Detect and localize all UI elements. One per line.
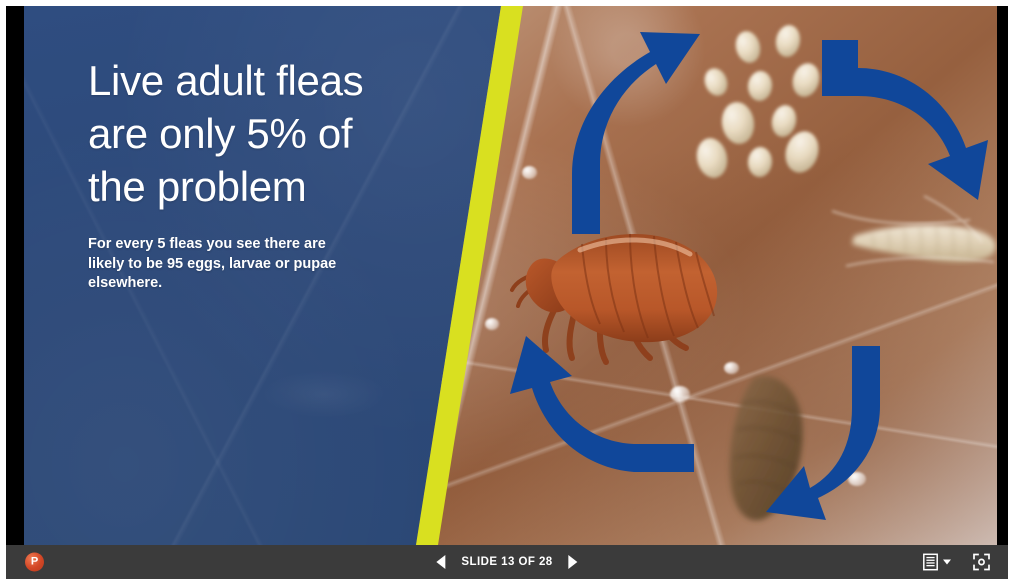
- slide-menu-button[interactable]: [923, 554, 951, 571]
- fullscreen-button[interactable]: [973, 554, 990, 571]
- flea-life-cycle-diagram: [454, 6, 997, 545]
- playback-control-bar: P SLIDE 13 OF 28: [6, 545, 1008, 579]
- eggs-cluster: [693, 23, 824, 181]
- adult-flea: [512, 234, 717, 362]
- slide-title: Live adult fleas are only 5% of the prob…: [88, 54, 388, 213]
- slide-navigation: SLIDE 13 OF 28: [436, 555, 577, 569]
- larva: [852, 225, 996, 262]
- expand-icon: [973, 554, 990, 571]
- slide-body-text: For every 5 fleas you see there are like…: [88, 235, 350, 294]
- slides-list-icon: [923, 554, 938, 571]
- viewer-tools: [923, 554, 990, 571]
- powerpoint-logo-letter: P: [31, 557, 38, 568]
- slide-canvas[interactable]: Live adult fleas are only 5% of the prob…: [24, 6, 997, 545]
- powerpoint-logo-icon: P: [25, 553, 44, 572]
- letterbox-left: [6, 6, 24, 545]
- chevron-down-icon: [943, 560, 951, 565]
- arrow-eggs-to-larva: [822, 40, 988, 200]
- arrow-adult-to-eggs: [572, 32, 700, 234]
- previous-slide-button[interactable]: [436, 555, 445, 569]
- presentation-viewer: Live adult fleas are only 5% of the prob…: [0, 0, 1014, 585]
- slide-text-block: Live adult fleas are only 5% of the prob…: [88, 54, 388, 294]
- slide-counter-label: SLIDE 13 OF 28: [461, 556, 552, 568]
- next-slide-button[interactable]: [569, 555, 578, 569]
